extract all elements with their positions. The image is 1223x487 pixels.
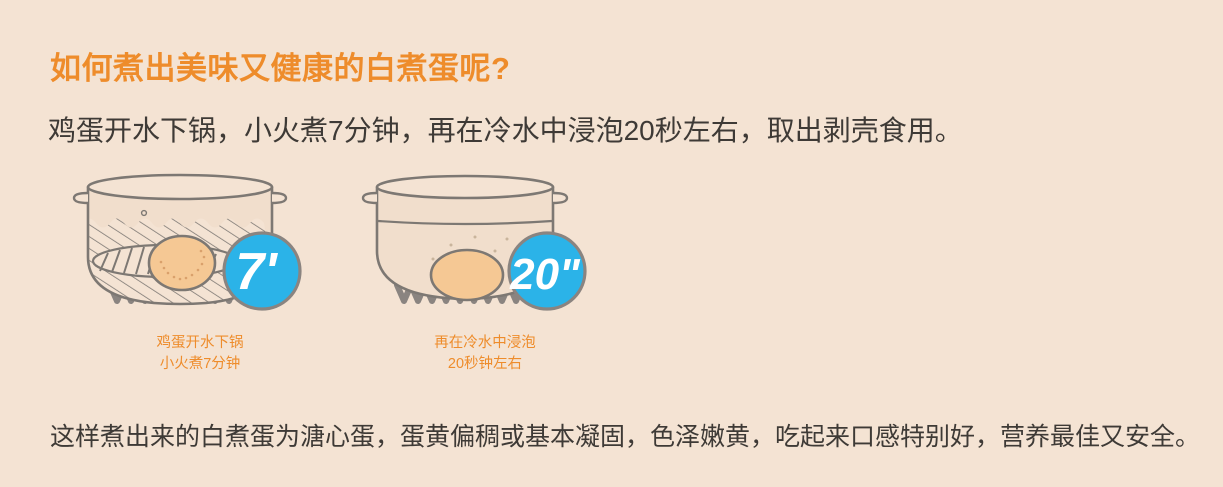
step-2-caption-line2: 20秒钟左右 — [355, 354, 615, 375]
infographic-page: 如何煮出美味又健康的白煮蛋呢? 鸡蛋开水下锅，小火煮7分钟，再在冷水中浸泡20秒… — [0, 0, 1223, 487]
bowl-handle-right — [553, 193, 567, 203]
illustration-bowl-cold-water: 20" — [355, 165, 615, 315]
egg-icon — [149, 236, 215, 290]
badge-label-1: 7' — [235, 243, 278, 301]
footer-paragraph: 这样煮出来的白煮蛋为溏心蛋，蛋黄偏稠或基本凝固，色泽嫩黄，吃起来口感特别好，营养… — [50, 417, 1200, 453]
step-1-caption-line1: 鸡蛋开水下锅 — [70, 333, 330, 354]
bowl-handle-left — [363, 193, 377, 203]
badge-label-2: 20" — [509, 250, 581, 299]
step-2: 20" 再在冷水中浸泡 20秒钟左右 — [355, 165, 615, 390]
illustration-pot-boiling: 7' — [70, 165, 330, 315]
step-2-caption-line1: 再在冷水中浸泡 — [355, 333, 615, 354]
steps-container: 7' 鸡蛋开水下锅 小火煮7分钟 — [0, 165, 1223, 390]
step-2-caption: 再在冷水中浸泡 20秒钟左右 — [355, 333, 615, 375]
lead-paragraph: 鸡蛋开水下锅，小火煮7分钟，再在冷水中浸泡20秒左右，取出剥壳食用。 — [48, 109, 963, 149]
pot-handle-left — [74, 193, 88, 203]
pot-handle-right — [272, 193, 286, 203]
bowl-rim — [377, 176, 553, 198]
badge-timer-7: 7' — [224, 233, 300, 309]
step-1-caption: 鸡蛋开水下锅 小火煮7分钟 — [70, 333, 330, 375]
pot-rim — [88, 175, 272, 199]
step-1-caption-line2: 小火煮7分钟 — [70, 354, 330, 375]
egg-icon — [431, 250, 503, 300]
page-title: 如何煮出美味又健康的白煮蛋呢? — [50, 43, 510, 88]
badge-timer-20: 20" — [509, 233, 585, 309]
step-1: 7' 鸡蛋开水下锅 小火煮7分钟 — [70, 165, 330, 390]
